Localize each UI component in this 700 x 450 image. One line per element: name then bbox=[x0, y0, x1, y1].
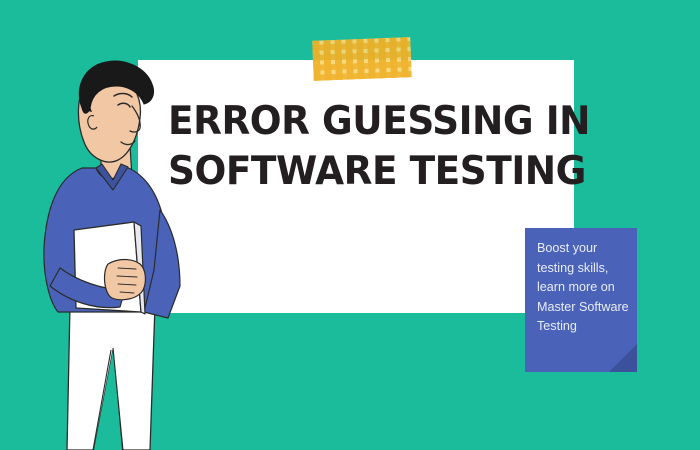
washi-tape-decoration bbox=[312, 37, 411, 81]
call-to-action-note: Boost your testing skills, learn more on… bbox=[525, 228, 637, 372]
note-text: Boost your testing skills, learn more on… bbox=[537, 239, 629, 337]
note-corner-fold-icon bbox=[609, 344, 637, 372]
poster-canvas: ERROR GUESSING IN SOFTWARE TESTING Boost… bbox=[0, 0, 700, 450]
character-illustration bbox=[10, 50, 240, 450]
